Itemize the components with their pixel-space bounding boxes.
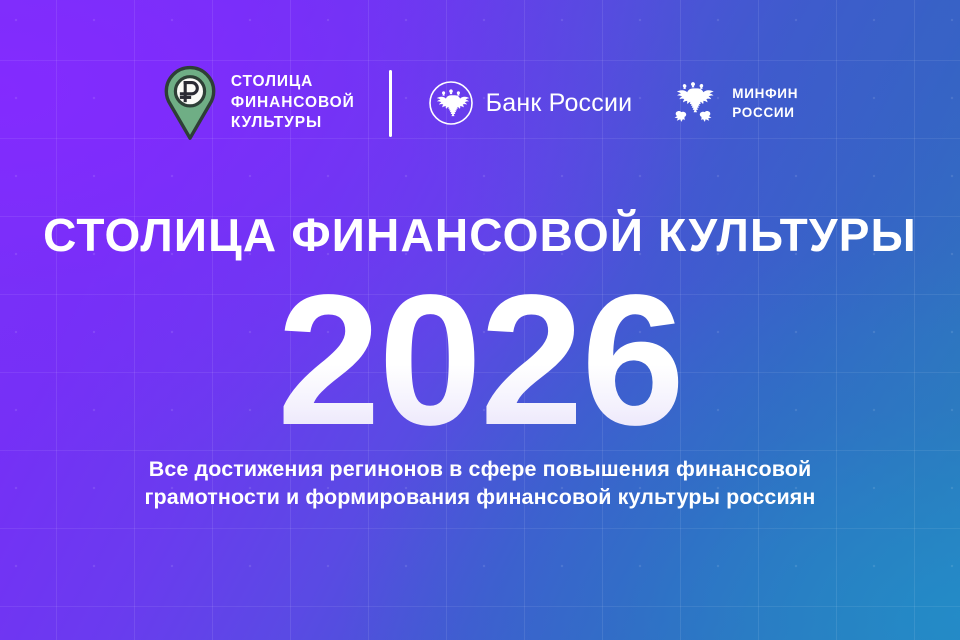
double-headed-eagle-emblem-icon <box>428 80 474 126</box>
partner-minfin-name: МИНФИН РОССИИ <box>732 86 798 119</box>
poster-canvas: СТОЛИЦА ФИНАНСОВОЙ КУЛЬТУРЫ Банк Росс <box>0 0 960 640</box>
partner-minfin: МИНФИН РОССИИ <box>666 78 798 128</box>
brand-logo: СТОЛИЦА ФИНАНСОВОЙ КУЛЬТУРЫ <box>162 65 355 141</box>
page-title: СТОЛИЦА ФИНАНСОВОЙ КУЛЬТУРЫ <box>0 208 960 262</box>
map-pin-ruble-icon <box>162 65 218 141</box>
partner-minfin-name-line-2: РОССИИ <box>732 105 798 120</box>
poster-content: СТОЛИЦА ФИНАНСОВОЙ КУЛЬТУРЫ Банк Росс <box>0 0 960 640</box>
partner-bank-of-russia: Банк России <box>428 80 633 126</box>
subtitle-line-2: грамотности и формирования финансовой ку… <box>70 484 890 512</box>
subtitle-text: Все достижения регинонов в сфере повышен… <box>0 456 960 512</box>
subtitle-line-1: Все достижения регинонов в сфере повышен… <box>70 456 890 484</box>
russian-federation-eagle-icon <box>666 78 720 128</box>
logo-lockup-header: СТОЛИЦА ФИНАНСОВОЙ КУЛЬТУРЫ Банк Росс <box>0 55 960 151</box>
brand-name-text: СТОЛИЦА ФИНАНСОВОЙ КУЛЬТУРЫ <box>231 74 355 132</box>
lockup-divider <box>389 70 392 137</box>
brand-name-line-3: КУЛЬТУРЫ <box>231 115 355 132</box>
partner-minfin-name-line-1: МИНФИН <box>732 86 798 101</box>
brand-name-line-2: ФИНАНСОВОЙ <box>231 95 355 112</box>
partner-bank-of-russia-name: Банк России <box>486 91 633 116</box>
brand-name-line-1: СТОЛИЦА <box>231 74 355 91</box>
year-display: 2026 <box>0 268 960 454</box>
